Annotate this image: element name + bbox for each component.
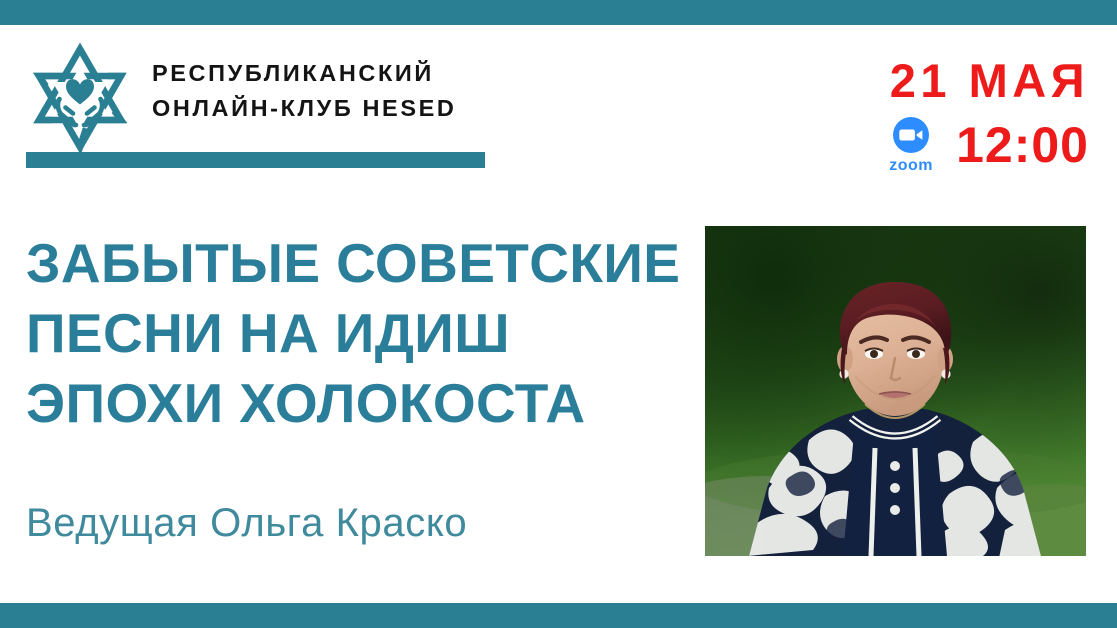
presenter-portrait — [705, 226, 1086, 556]
page-title: ЗАБЫТЫЕ СОВЕТСКИЕ ПЕСНИ НА ИДИШ ЭПОХИ ХО… — [26, 228, 676, 438]
brand-line-1: РЕСПУБЛИКАНСКИЙ — [152, 56, 542, 91]
title-line-2: ПЕСНИ НА ИДИШ — [26, 298, 676, 368]
zoom-wordmark: zoom — [889, 157, 933, 174]
brand-header: РЕСПУБЛИКАНСКИЙ ОНЛАЙН-КЛУБ HESED — [22, 40, 542, 170]
event-date: 21 МАЯ — [789, 56, 1089, 106]
star-of-david-heart-hands-icon — [24, 42, 136, 154]
event-poster: РЕСПУБЛИКАНСКИЙ ОНЛАЙН-КЛУБ HESED 21 МАЯ… — [0, 0, 1117, 628]
bottom-accent-bar — [0, 603, 1117, 628]
brand-line-2: ОНЛАЙН-КЛУБ HESED — [152, 91, 542, 126]
event-when-block: 21 МАЯ zoom 12:00 — [789, 56, 1089, 176]
top-accent-bar — [0, 0, 1117, 25]
event-time-row: zoom 12:00 — [789, 114, 1089, 176]
zoom-camera-icon — [890, 114, 932, 156]
title-line-1: ЗАБЫТЫЕ СОВЕТСКИЕ — [26, 228, 676, 298]
brand-underline-bar — [26, 152, 485, 168]
zoom-logo[interactable]: zoom — [880, 114, 942, 174]
event-time: 12:00 — [956, 119, 1089, 171]
presenter-name: Ведущая Ольга Краско — [26, 498, 676, 548]
title-line-3: ЭПОХИ ХОЛОКОСТА — [26, 368, 676, 438]
brand-text: РЕСПУБЛИКАНСКИЙ ОНЛАЙН-КЛУБ HESED — [152, 56, 542, 126]
